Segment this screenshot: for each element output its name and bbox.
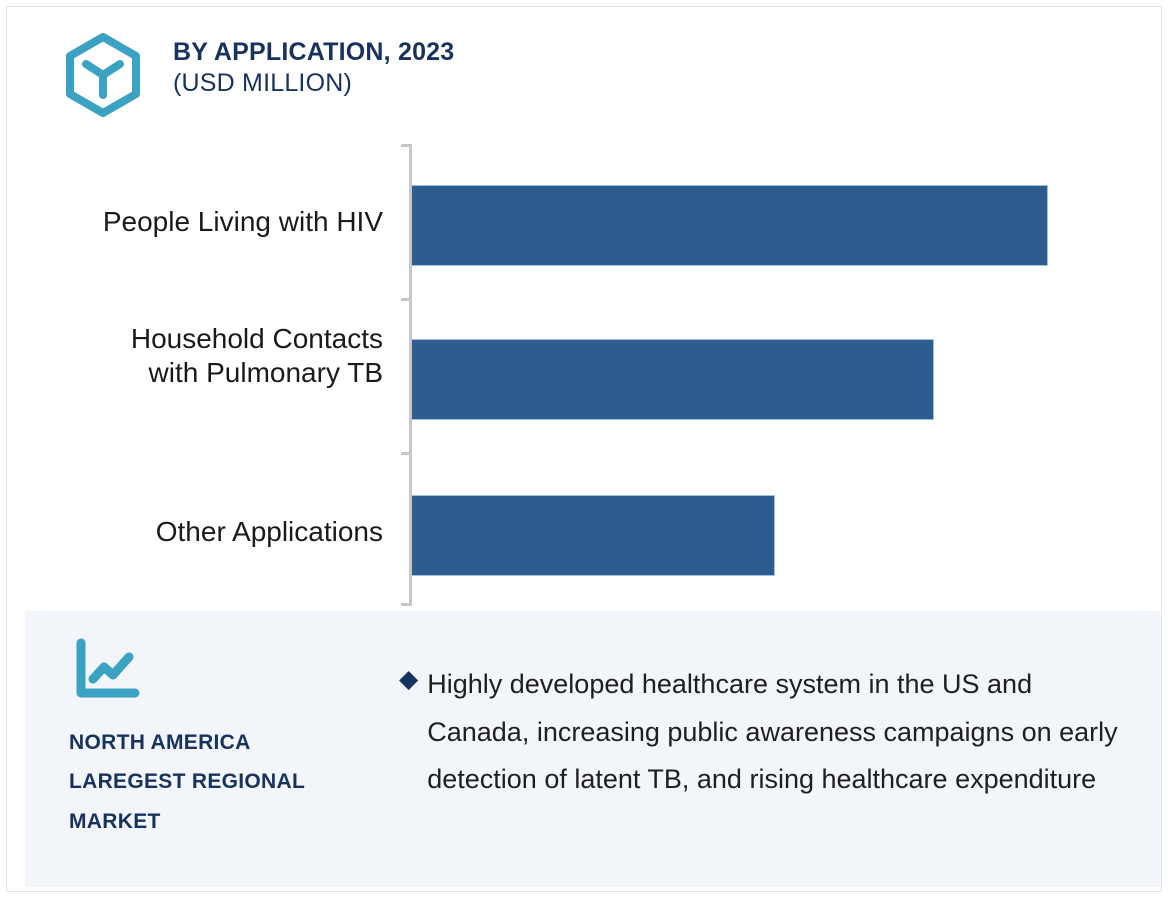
- axis-tick: [401, 452, 412, 455]
- axis-tick: [401, 298, 412, 301]
- axis-tick: [401, 144, 412, 147]
- bar-other-applications: [412, 495, 775, 576]
- regional-insight-panel: NORTH AMERICA LAREGEST REGIONAL MARKET ◆…: [25, 611, 1161, 887]
- diamond-bullet-icon: ◆: [399, 667, 418, 692]
- chart-card: BY APPLICATION, 2023 (USD MILLION) Peopl…: [6, 6, 1162, 892]
- insight-bullet-text: Highly developed healthcare system in th…: [427, 661, 1119, 804]
- category-label: People Living with HIV: [103, 205, 383, 239]
- axis-tick: [401, 603, 412, 606]
- chart-header: BY APPLICATION, 2023 (USD MILLION): [7, 7, 1161, 137]
- page-title: BY APPLICATION, 2023: [173, 37, 454, 68]
- category-label: Household Contacts with Pulmonary TB: [131, 322, 383, 390]
- region-title: NORTH AMERICA LAREGEST REGIONAL MARKET: [69, 723, 369, 841]
- insight-bullet: ◆ Highly developed healthcare system in …: [399, 661, 1119, 804]
- page-units: (USD MILLION): [173, 68, 454, 99]
- category-label: Other Applications: [156, 515, 383, 549]
- bar-chart: People Living with HIV Household Contact…: [7, 137, 1162, 611]
- header-text-block: BY APPLICATION, 2023 (USD MILLION): [173, 37, 454, 98]
- bar-household-contacts-with-pulmonary-tb: [412, 339, 934, 420]
- bar-people-living-with-hiv: [412, 185, 1048, 266]
- hexagon-y-icon: [64, 33, 142, 117]
- line-chart-icon: [71, 637, 143, 703]
